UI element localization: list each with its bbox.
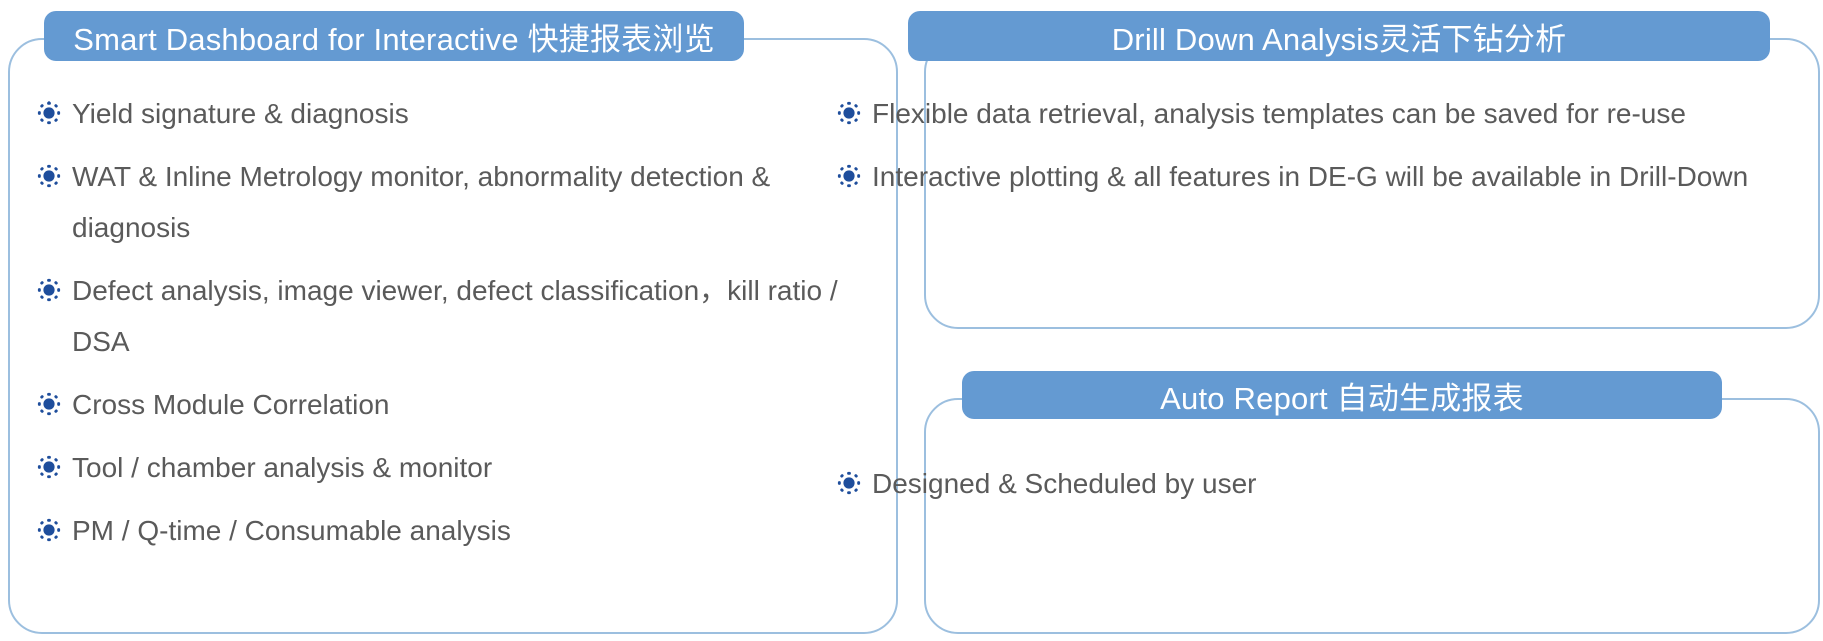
focus-dot-icon bbox=[36, 277, 62, 310]
list-item-label: Designed & Scheduled by user bbox=[872, 458, 1776, 509]
panel-title-drilldown: Drill Down Analysis灵活下钻分析 bbox=[908, 11, 1770, 61]
panel-title-dashboard: Smart Dashboard for Interactive 快捷报表浏览 bbox=[44, 11, 744, 61]
panel-title-autoreport: Auto Report 自动生成报表 bbox=[962, 371, 1722, 419]
focus-dot-icon bbox=[836, 470, 862, 503]
focus-dot-icon bbox=[36, 163, 62, 196]
list-item-label: Tool / chamber analysis & monitor bbox=[72, 442, 866, 493]
list-item: Flexible data retrieval, analysis templa… bbox=[836, 88, 1776, 139]
list-item-label: WAT & Inline Metrology monitor, abnormal… bbox=[72, 151, 866, 253]
list-item-label: Flexible data retrieval, analysis templa… bbox=[872, 88, 1776, 139]
list-item: Interactive plotting & all features in D… bbox=[836, 151, 1776, 202]
feature-list-dashboard: Yield signature & diagnosis bbox=[36, 88, 866, 568]
feature-list-autoreport: Designed & Scheduled by user bbox=[836, 458, 1776, 521]
list-item-label: PM / Q-time / Consumable analysis bbox=[72, 505, 866, 556]
list-item: PM / Q-time / Consumable analysis bbox=[36, 505, 866, 556]
focus-dot-icon bbox=[836, 100, 862, 133]
list-item-label: Defect analysis, image viewer, defect cl… bbox=[72, 265, 866, 367]
list-item: Yield signature & diagnosis bbox=[36, 88, 866, 139]
list-item-label: Interactive plotting & all features in D… bbox=[872, 151, 1776, 202]
list-item: Tool / chamber analysis & monitor bbox=[36, 442, 866, 493]
feature-list-drilldown: Flexible data retrieval, analysis templa… bbox=[836, 88, 1776, 214]
feature-panels-root: Smart Dashboard for Interactive 快捷报表浏览 bbox=[0, 0, 1823, 641]
list-item: Designed & Scheduled by user bbox=[836, 458, 1776, 509]
list-item: WAT & Inline Metrology monitor, abnormal… bbox=[36, 151, 866, 253]
focus-dot-icon bbox=[36, 454, 62, 487]
list-item-label: Cross Module Correlation bbox=[72, 379, 866, 430]
focus-dot-icon bbox=[836, 163, 862, 196]
focus-dot-icon bbox=[36, 100, 62, 133]
focus-dot-icon bbox=[36, 517, 62, 550]
focus-dot-icon bbox=[36, 391, 62, 424]
list-item: Defect analysis, image viewer, defect cl… bbox=[36, 265, 866, 367]
list-item-label: Yield signature & diagnosis bbox=[72, 88, 866, 139]
list-item: Cross Module Correlation bbox=[36, 379, 866, 430]
